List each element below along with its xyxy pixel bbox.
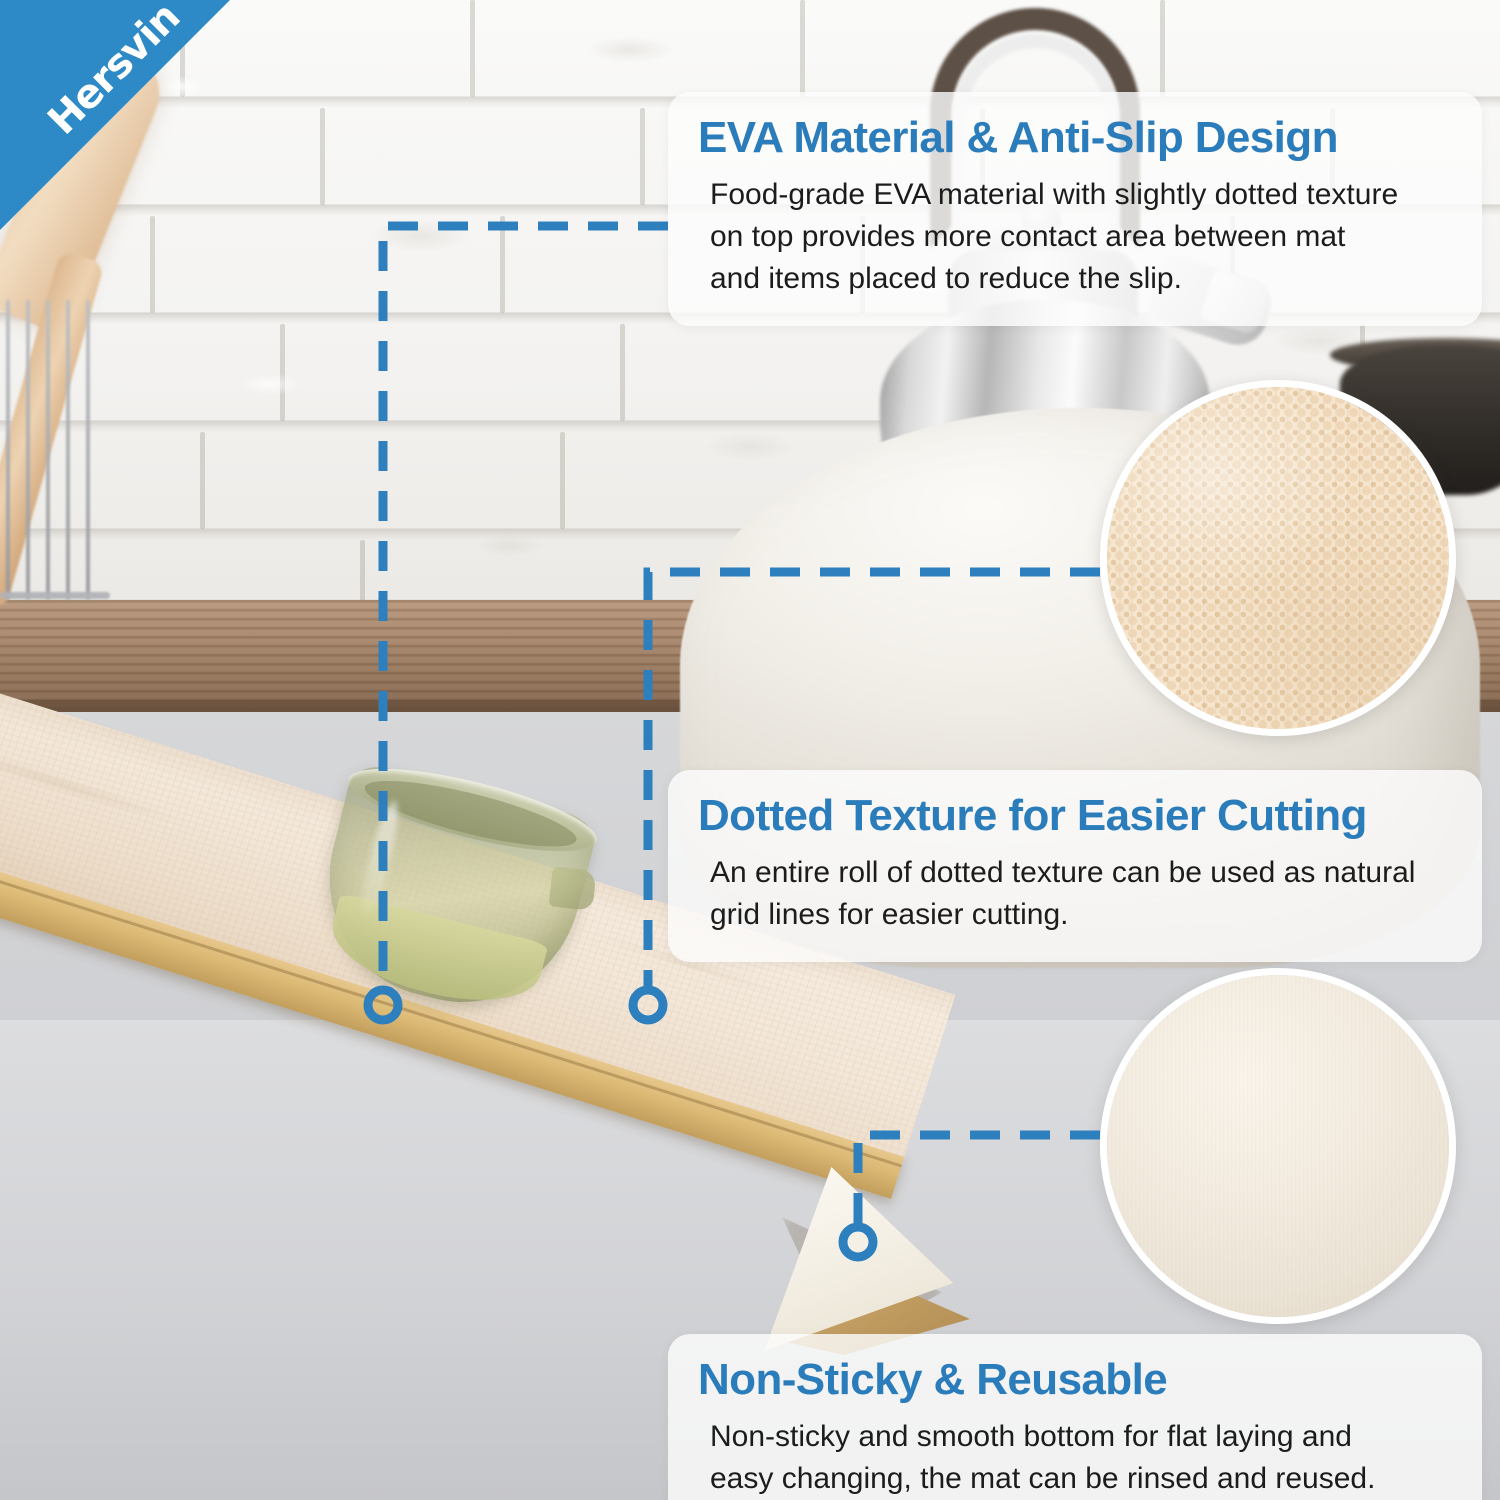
feature-body-line: easy changing, the mat can be rinsed and… <box>710 1458 1452 1500</box>
feature-body: Non-sticky and smooth bottom for flat la… <box>698 1416 1452 1500</box>
peeled-mat-corner <box>760 1155 980 1355</box>
feature-body-line: An entire roll of dotted texture can be … <box>710 852 1452 894</box>
feature-card-dotted-texture: Dotted Texture for Easier Cutting An ent… <box>668 770 1482 962</box>
wire-dish-rack <box>0 300 110 620</box>
product-infographic: EVA Material & Anti-Slip Design Food-gra… <box>0 0 1500 1500</box>
feature-body: An entire roll of dotted texture can be … <box>698 852 1452 936</box>
feature-body: Food-grade EVA material with slightly do… <box>698 174 1452 300</box>
feature-body-line: Food-grade EVA material with slightly do… <box>710 174 1452 216</box>
feature-card-eva-material: EVA Material & Anti-Slip Design Food-gra… <box>668 92 1482 326</box>
smooth-bottom-zoom-circle <box>1100 968 1456 1324</box>
brand-logo-banner: Hersvin <box>0 0 230 230</box>
dotted-texture-shading <box>1107 387 1449 729</box>
smooth-bottom-swatch <box>1107 975 1449 1317</box>
feature-body-line: on top provides more contact area betwee… <box>710 216 1452 258</box>
feature-title: Non-Sticky & Reusable <box>698 1356 1452 1404</box>
feature-title: EVA Material & Anti-Slip Design <box>698 114 1452 162</box>
feature-body-line: grid lines for easier cutting. <box>710 894 1452 936</box>
cup-spout <box>549 866 597 910</box>
feature-body-line: and items placed to reduce the slip. <box>710 258 1452 300</box>
feature-body-line: Non-sticky and smooth bottom for flat la… <box>710 1416 1452 1458</box>
dotted-surface-zoom-circle <box>1100 380 1456 736</box>
feature-card-non-sticky: Non-Sticky & Reusable Non-sticky and smo… <box>668 1334 1482 1500</box>
feature-title: Dotted Texture for Easier Cutting <box>698 792 1452 840</box>
